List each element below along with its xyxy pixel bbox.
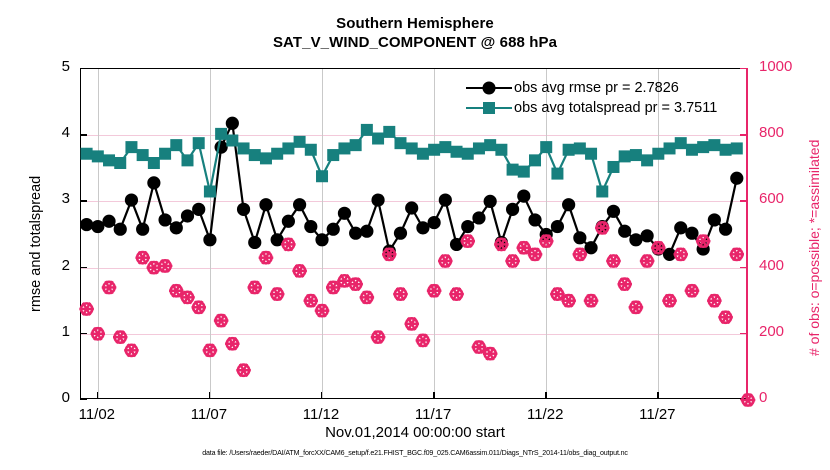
rmse-marker (226, 117, 239, 130)
x-axis-tick-mark (97, 392, 98, 399)
rmse-marker (125, 193, 138, 206)
rmse-marker (248, 236, 261, 249)
totalspread-marker (540, 141, 552, 153)
obs-marker (248, 281, 262, 293)
x-axis-tick-mark (545, 392, 546, 399)
obs-marker (606, 255, 620, 267)
x-axis-tick-mark (321, 392, 322, 399)
obs-marker (416, 334, 430, 346)
totalspread-marker (181, 154, 193, 166)
obs-marker (281, 238, 295, 250)
rmse-marker (461, 220, 474, 233)
rmse-marker (215, 141, 228, 154)
obs-marker (124, 344, 138, 356)
rmse-marker (136, 223, 149, 236)
rmse-marker (394, 227, 407, 240)
rmse-marker (293, 198, 306, 211)
rmse-marker (304, 220, 317, 233)
chart-title-line1: Southern Hemisphere (0, 14, 830, 33)
totalspread-marker (137, 149, 149, 161)
obs-marker (192, 301, 206, 313)
y-axis-left-tick-mark (80, 333, 87, 334)
obs-marker (662, 294, 676, 306)
legend-label-totalspread: obs avg totalspread pr = 3.7511 (512, 100, 717, 116)
x-axis-tick-label: 11/22 (515, 406, 575, 423)
totalspread-marker (720, 144, 732, 156)
x-axis-label: Nov.01,2014 00:00:00 start (0, 424, 830, 441)
obs-marker (393, 288, 407, 300)
totalspread-marker (372, 133, 384, 145)
totalspread-marker (451, 146, 463, 158)
obs-marker (730, 248, 744, 260)
obs-marker (304, 294, 318, 306)
obs-marker (674, 248, 688, 260)
square-marker-icon (483, 102, 495, 114)
obs-marker (113, 331, 127, 343)
rmse-marker (181, 209, 194, 222)
totalspread-marker (630, 149, 642, 161)
obs-marker (91, 328, 105, 340)
totalspread-marker (215, 128, 227, 140)
rmse-marker (641, 229, 654, 242)
obs-marker (292, 265, 306, 277)
totalspread-marker (484, 139, 496, 151)
rmse-marker (147, 176, 160, 189)
obs-marker (438, 255, 452, 267)
totalspread-marker (652, 148, 664, 160)
obs-marker (483, 347, 497, 359)
obs-marker (225, 337, 239, 349)
rmse-marker (360, 225, 373, 238)
totalspread-marker (563, 144, 575, 156)
x-axis-tick-label: 11/27 (627, 406, 687, 423)
totalspread-marker (462, 148, 474, 160)
rmse-marker (428, 216, 441, 229)
rmse-marker (517, 190, 530, 203)
rmse-marker (629, 233, 642, 246)
rmse-marker (405, 201, 418, 214)
legend-label-rmse: obs avg rmse pr = 2.7826 (512, 80, 679, 96)
legend-swatch-totalspread (466, 98, 512, 118)
rmse-marker (315, 233, 328, 246)
y-axis-left-label: rmse and totalspread (28, 175, 44, 311)
obs-marker (539, 235, 553, 247)
y-axis-left-tick-label: 1 (40, 323, 70, 340)
totalspread-marker (249, 149, 261, 161)
totalspread-marker (170, 139, 182, 151)
y-axis-left-tick-label: 5 (40, 58, 70, 75)
y-axis-left-tick-label: 0 (40, 389, 70, 406)
y-axis-right-tick-label: 800 (759, 124, 811, 141)
y-axis-left-tick-mark (80, 399, 87, 400)
obs-marker (528, 248, 542, 260)
y-axis-right-tick-label: 600 (759, 190, 811, 207)
obs-marker (214, 314, 228, 326)
totalspread-marker (675, 137, 687, 149)
totalspread-marker (585, 148, 597, 160)
chart-legend: obs avg rmse pr = 2.7826 obs avg totalsp… (462, 76, 721, 120)
obs-marker (180, 291, 194, 303)
rmse-marker (618, 225, 631, 238)
totalspread-marker (350, 139, 362, 151)
totalspread-marker (641, 154, 653, 166)
obs-marker (348, 278, 362, 290)
rmse-marker (114, 223, 127, 236)
x-axis-tick-label: 11/17 (403, 406, 463, 423)
totalspread-marker (697, 141, 709, 153)
obs-marker (371, 331, 385, 343)
totalspread-marker (383, 126, 395, 138)
obs-marker (707, 294, 721, 306)
y-axis-left-tick-mark (80, 68, 87, 69)
totalspread-marker (271, 148, 283, 160)
obs-marker (696, 235, 710, 247)
totalspread-marker (125, 141, 137, 153)
obs-marker (404, 318, 418, 330)
rmse-marker (102, 215, 115, 228)
rmse-marker (371, 193, 384, 206)
rmse-marker (573, 231, 586, 244)
totalspread-marker (294, 136, 306, 148)
obs-marker (617, 278, 631, 290)
totalspread-marker (406, 142, 418, 154)
totalspread-marker (148, 157, 160, 169)
totalspread-marker (159, 148, 171, 160)
obs-marker (461, 235, 475, 247)
y-axis-left-tick-mark (80, 267, 87, 268)
totalspread-marker (495, 144, 507, 156)
x-axis-tick-label: 11/07 (179, 406, 239, 423)
legend-item-totalspread: obs avg totalspread pr = 3.7511 (466, 98, 717, 118)
obs-marker (494, 238, 508, 250)
y-axis-left-tick-label: 2 (40, 257, 70, 274)
rmse-marker (730, 172, 743, 185)
legend-swatch-rmse (466, 78, 512, 98)
totalspread-marker (551, 168, 563, 180)
x-axis-tick-mark (657, 392, 658, 399)
rmse-marker (416, 221, 429, 234)
totalspread-marker (114, 157, 126, 169)
circle-marker-icon (483, 82, 496, 95)
obs-marker (135, 251, 149, 263)
totalspread-marker (529, 154, 541, 166)
y-axis-left-tick-label: 4 (40, 124, 70, 141)
obs-marker (584, 294, 598, 306)
rmse-marker (237, 203, 250, 216)
totalspread-marker (574, 142, 586, 154)
chart-title-line2: SAT_V_WIND_COMPONENT @ 688 hPa (0, 33, 830, 52)
rmse-marker (192, 203, 205, 216)
totalspread-marker (708, 139, 720, 151)
right-axis-spine (746, 68, 748, 399)
totalspread-marker (316, 170, 328, 182)
totalspread-marker (327, 149, 339, 161)
rmse-marker (472, 211, 485, 224)
obs-marker (573, 248, 587, 260)
rmse-marker (719, 223, 732, 236)
legend-item-rmse: obs avg rmse pr = 2.7826 (466, 78, 717, 98)
rmse-marker (562, 198, 575, 211)
chart-title: Southern Hemisphere SAT_V_WIND_COMPONENT… (0, 14, 830, 52)
rmse-marker (259, 198, 272, 211)
totalspread-marker (518, 166, 530, 178)
totalspread-marker (664, 142, 676, 154)
y-axis-left-tick-mark (80, 134, 87, 135)
obs-marker (427, 285, 441, 297)
obs-marker (685, 285, 699, 297)
x-axis-tick-label: 11/02 (67, 406, 127, 423)
x-axis-tick-mark (433, 392, 434, 399)
rmse-marker (439, 193, 452, 206)
totalspread-marker (417, 148, 429, 160)
totalspread-marker (731, 142, 743, 154)
obs-marker (158, 260, 172, 272)
totalspread-marker (473, 142, 485, 154)
rmse-marker (80, 218, 93, 231)
x-axis-tick-mark (209, 392, 210, 399)
rmse-marker (506, 203, 519, 216)
rmse-marker (170, 221, 183, 234)
obs-marker (315, 304, 329, 316)
totalspread-marker (193, 137, 205, 149)
obs-marker (259, 251, 273, 263)
rmse-marker (158, 213, 171, 226)
obs-marker (236, 364, 250, 376)
data-file-footer: data file: /Users/raeder/DAI/ATM_forcXX/… (0, 449, 830, 457)
rmse-marker (551, 220, 564, 233)
rmse-marker (91, 220, 104, 233)
totalspread-marker (361, 124, 373, 136)
obs-marker (360, 291, 374, 303)
rmse-marker (674, 221, 687, 234)
totalspread-marker (92, 150, 104, 162)
rmse-marker (338, 207, 351, 220)
y-axis-right-label: # of obs: o=possible; *=assimilated (806, 139, 822, 355)
totalspread-marker (103, 154, 115, 166)
rmse-marker (484, 195, 497, 208)
rmse-marker (327, 223, 340, 236)
obs-marker (561, 294, 575, 306)
rmse-marker (607, 205, 620, 218)
obs-marker (270, 288, 284, 300)
x-axis-tick-label: 11/12 (291, 406, 351, 423)
obs-marker (102, 281, 116, 293)
obs-marker (595, 222, 609, 234)
y-axis-right-tick-label: 200 (759, 323, 811, 340)
totalspread-marker (260, 152, 272, 164)
totalspread-marker (394, 137, 406, 149)
rmse-marker (528, 213, 541, 226)
totalspread-marker (428, 144, 440, 156)
obs-marker (629, 301, 643, 313)
obs-marker (382, 248, 396, 260)
rmse-marker (685, 227, 698, 240)
totalspread-marker (439, 141, 451, 153)
y-axis-right-tick-label: 400 (759, 257, 811, 274)
totalspread-marker (81, 148, 93, 160)
totalspread-marker (282, 142, 294, 154)
totalspread-marker (686, 144, 698, 156)
rmse-marker (349, 227, 362, 240)
totalspread-marker (204, 185, 216, 197)
y-axis-right-tick-label: 1000 (759, 58, 811, 75)
y-axis-left-tick-mark (80, 200, 87, 201)
totalspread-marker (338, 142, 350, 154)
obs-marker (718, 311, 732, 323)
totalspread-marker (305, 144, 317, 156)
rmse-marker (282, 215, 295, 228)
totalspread-marker (596, 185, 608, 197)
obs-marker (203, 344, 217, 356)
rmse-marker (708, 213, 721, 226)
y-axis-left-tick-label: 3 (40, 190, 70, 207)
y-axis-right-tick-label: 0 (759, 389, 811, 406)
obs-marker (505, 255, 519, 267)
totalspread-marker (226, 134, 238, 146)
totalspread-marker (507, 164, 519, 176)
rmse-marker (203, 233, 216, 246)
totalspread-marker (607, 161, 619, 173)
totalspread-marker (619, 150, 631, 162)
obs-marker (651, 242, 665, 254)
y-axis-right-tick-mark (740, 399, 747, 400)
obs-marker (79, 303, 93, 315)
obs-marker (449, 288, 463, 300)
obs-marker (640, 255, 654, 267)
totalspread-marker (238, 142, 250, 154)
